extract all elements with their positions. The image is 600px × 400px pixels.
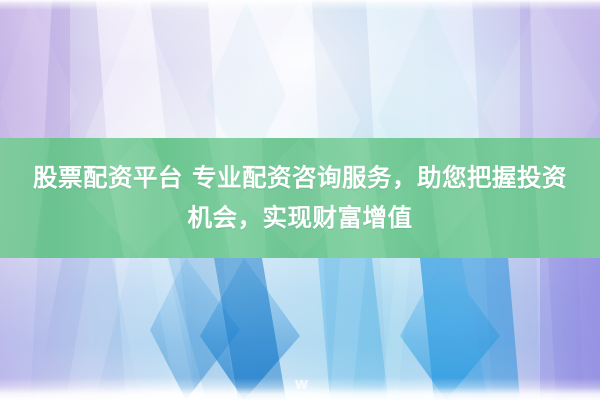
banner-image-canvas: 股票配资平台 专业配资咨询服务，助您把握投资 机会，实现财富增值 W — [0, 0, 600, 400]
headline-line-2: 机会，实现财富增值 — [188, 198, 413, 238]
headline-text-block: 股票配资平台 专业配资咨询服务，助您把握投资 机会，实现财富增值 — [0, 138, 600, 258]
headline-line-1: 股票配资平台 专业配资咨询服务，助您把握投资 — [33, 158, 567, 198]
headline-banner: 股票配资平台 专业配资咨询服务，助您把握投资 机会，实现财富增值 — [0, 138, 600, 258]
watermark-text: W — [262, 376, 342, 394]
